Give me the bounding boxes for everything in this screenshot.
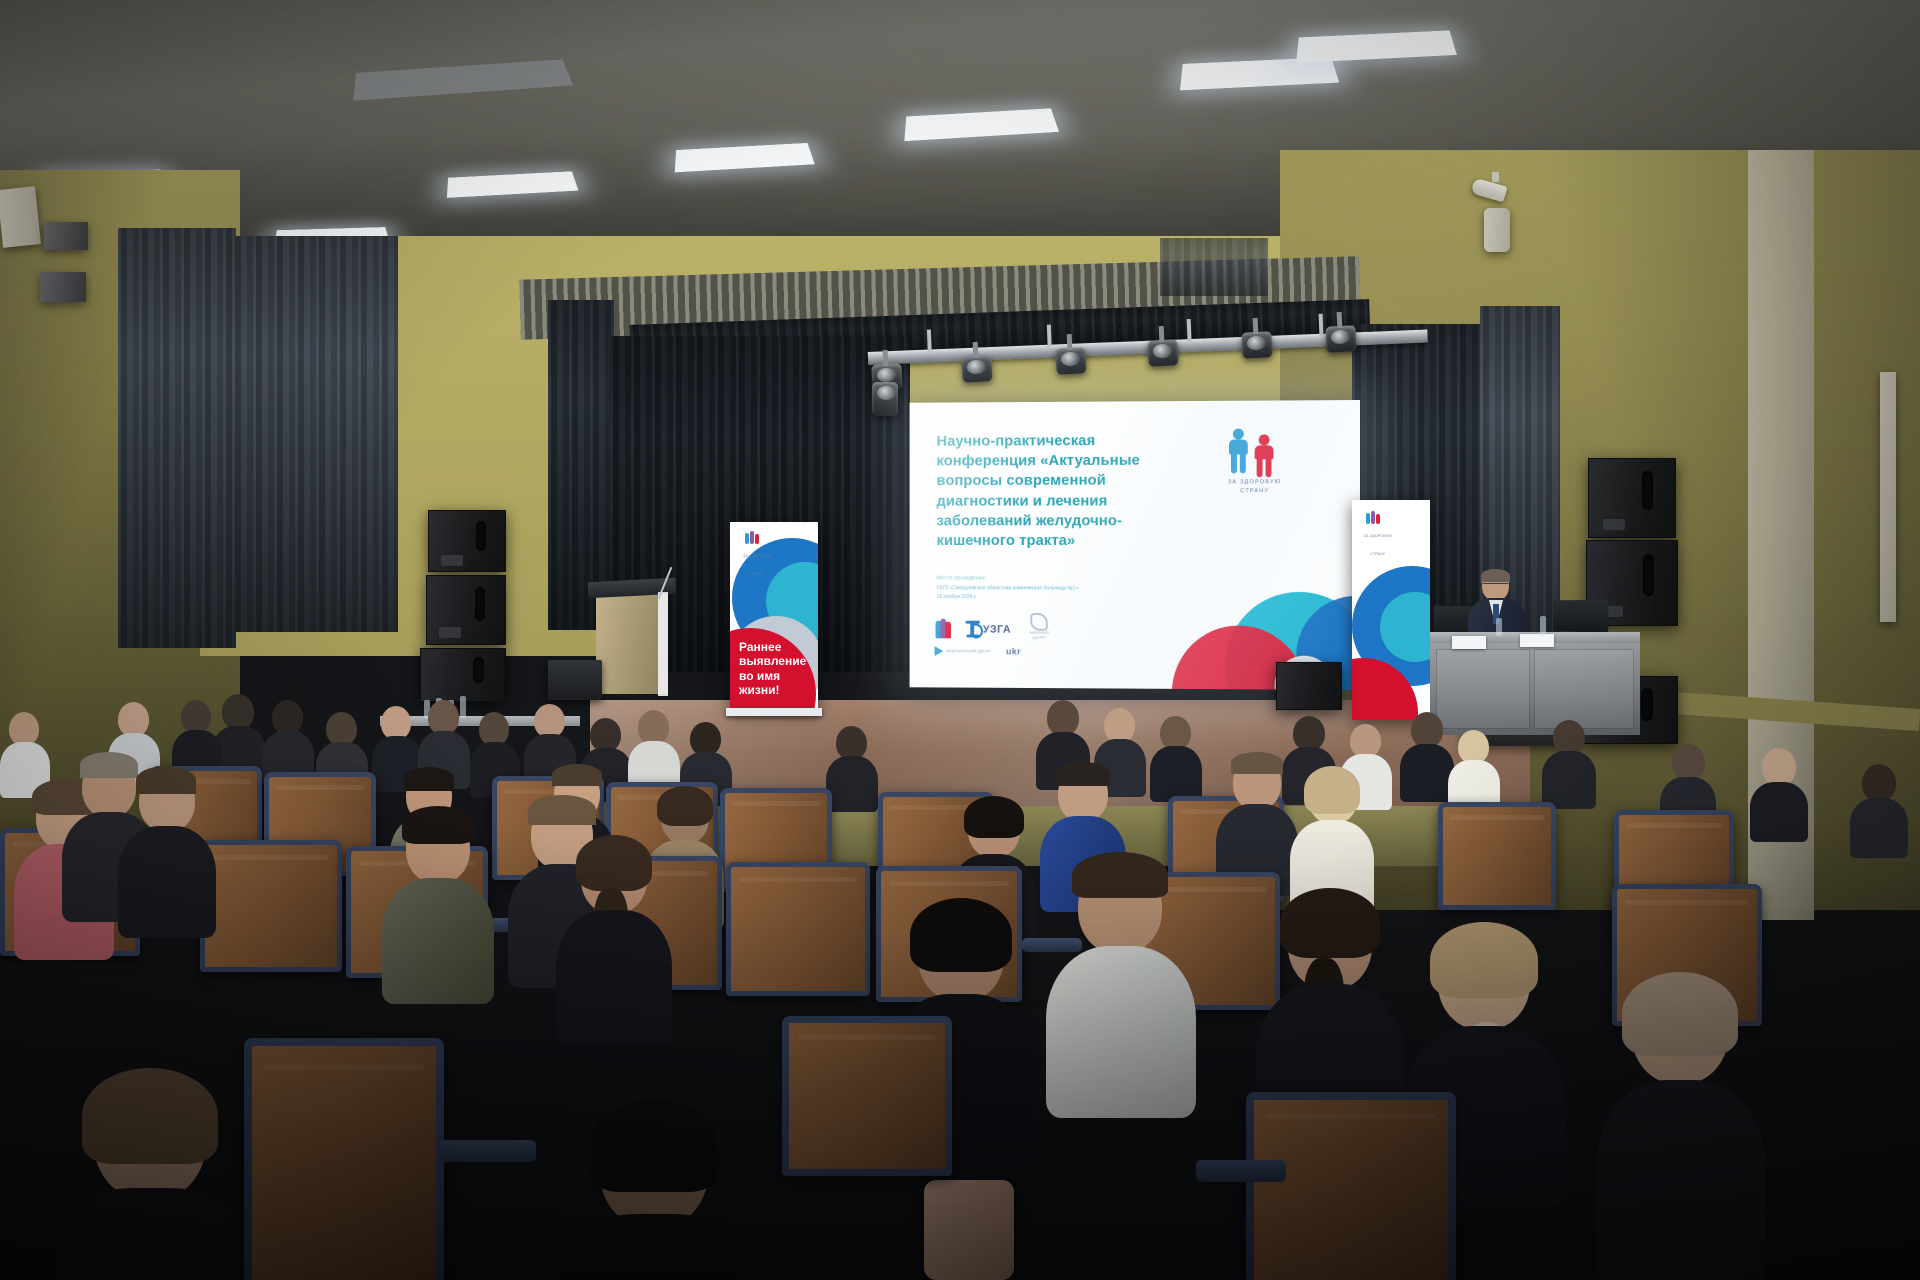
stage-spotlight [961,355,992,383]
auditorium-seat [244,1038,444,1280]
banner-headline-line-3: во имя [739,669,806,684]
banner-logo-caption: ЗА ЗДОРОВУЮ СТРАНУ [1364,534,1392,556]
stage-spotlight [1241,331,1272,359]
banner-headline-line-4: жизни! [739,683,806,698]
stage-spotlight [1055,347,1086,375]
stage-spotlight [1147,339,1178,367]
audience-person [1750,748,1808,840]
slide-place-line-1: ГАУЗ «Свердловская областная клиническая… [937,585,1079,591]
wall-panel-right [1880,372,1896,622]
person-hair [136,766,196,794]
stage-light-wall-left-2 [40,272,86,302]
person-hair [1430,922,1538,998]
presidium-table-front [1430,643,1640,735]
water-bottle [1496,618,1502,636]
seat-armrest [1196,1160,1286,1182]
person-hair [576,835,652,891]
banner-headline-line-1: Раннее [739,640,806,655]
slide-place-line-2: 19 ноября 2025 г. [937,594,977,600]
audience-person [1046,860,1196,1112]
speaker-glasses [1483,583,1508,589]
handbag [924,1180,1014,1280]
slide-place-label: Место проведения: [937,575,987,581]
banner-logo: ЗА ЗДОРОВУЮ СТРАНУ [742,531,772,580]
conference-hall-photo: Научно-практическая конференция «Актуаль… [0,0,1920,1280]
roll-up-banner-right: ЗА ЗДОРОВУЮ СТРАНУ [1352,500,1430,720]
person-hair [910,898,1012,972]
table-panel [1534,649,1634,729]
logo-figure-red [1255,434,1274,480]
audience-person [1596,980,1766,1280]
person-hair [1304,766,1360,814]
stage-spotlight [1325,325,1356,353]
slide-partner-logo-row-1: УЗГА НАУЧНЫЙ ЦЕНТР [935,613,1054,641]
person-hair [1072,852,1168,898]
audience-person [382,812,494,998]
audience-person [1150,716,1202,800]
slide-title: Научно-практическая конференция «Актуаль… [937,431,1190,551]
seat-armrest [440,1140,536,1162]
side-curtain-far-left [118,228,236,648]
audience-person [556,840,672,1036]
banner-logo-caption: ЗА ЗДОРОВУЮ СТРАНУ [743,554,771,576]
auditorium-seat [1246,1092,1456,1280]
audience-person [1542,720,1596,806]
person-hair [1231,752,1283,774]
audience-person [1850,764,1908,856]
audience-person [1290,768,1374,908]
partner-logo-3: НАУЧНЫЙ ЦЕНТР [1025,613,1054,640]
banner-headline-line-2: выявление [739,654,806,669]
camera-mount [1492,172,1499,182]
pa-speaker-stack-left-top [428,510,506,572]
person-hair [1622,972,1738,1056]
logo-figure-blue [1229,429,1248,475]
pa-speaker-stack-left-bottom [426,575,506,645]
auditorium-seat [200,840,342,972]
auditorium-seat [1438,802,1556,910]
ukr-logo-text: ukr [1006,646,1021,656]
side-curtain-left-a [232,236,398,632]
wall-speaker-right [1484,208,1510,252]
pa-speaker-stack-left-lower [420,648,506,702]
person-hair [590,1100,718,1192]
pa-speaker-stack-right-top [1588,458,1676,538]
person-hair [1280,888,1380,958]
banner-headline: Раннее выявление во имя жизни! [739,640,806,699]
audience-person [1400,712,1454,800]
audience-person [52,1078,252,1280]
zdorovaya-strana-main-logo: ЗА ЗДОРОВУЮ СТРАНУ [1211,426,1298,496]
side-curtain-far-right [1160,238,1268,296]
lectern-edge-trim [658,592,668,696]
audience-person [118,770,216,934]
uzga-logo-text: УЗГА [983,623,1011,635]
auditorium-seat [726,862,870,996]
auditorium-seat [782,1016,952,1176]
zdorovaya-strana-logo [935,618,952,640]
presidium-laptop-2 [1553,600,1608,633]
person-hair [657,786,713,826]
water-bottle [1540,616,1546,636]
banner-left-base [726,708,822,716]
person-hair [402,806,474,844]
banner-logo: ЗА ЗДОРОВУЮ СТРАНУ [1363,511,1393,560]
presidium-nameplate [1520,634,1554,647]
person-hair [82,1068,218,1164]
uzga-logo: УЗГА [965,618,1011,640]
stage-light-wall-left-1 [44,222,88,250]
logo-caption-line-2: СТРАНУ [1211,487,1298,496]
person-hair [404,767,454,791]
stage-spotlight-left [872,382,898,416]
partner-logo-4: МЕДИЦИНСКИЙ ЦЕНТР [935,646,991,656]
projection-screen: Научно-практическая конференция «Актуаль… [910,400,1360,690]
person-hair [552,764,602,786]
person-hair [1056,762,1110,786]
speaker-hair [1481,569,1510,582]
presidium-nameplate [1452,636,1486,649]
pa-speaker-center [1276,662,1342,710]
person-hair [964,796,1024,838]
stage-floor-monitor [548,660,602,700]
wall-speaker-left [0,186,41,248]
slide-partner-logo-row-2: МЕДИЦИНСКИЙ ЦЕНТР ukr [935,646,1022,656]
audience-person [826,726,878,810]
roll-up-banner-left: ЗА ЗДОРОВУЮ СТРАНУ Раннее выявление во и… [730,522,818,710]
person-hair [528,795,596,825]
audience-person [560,1110,750,1280]
